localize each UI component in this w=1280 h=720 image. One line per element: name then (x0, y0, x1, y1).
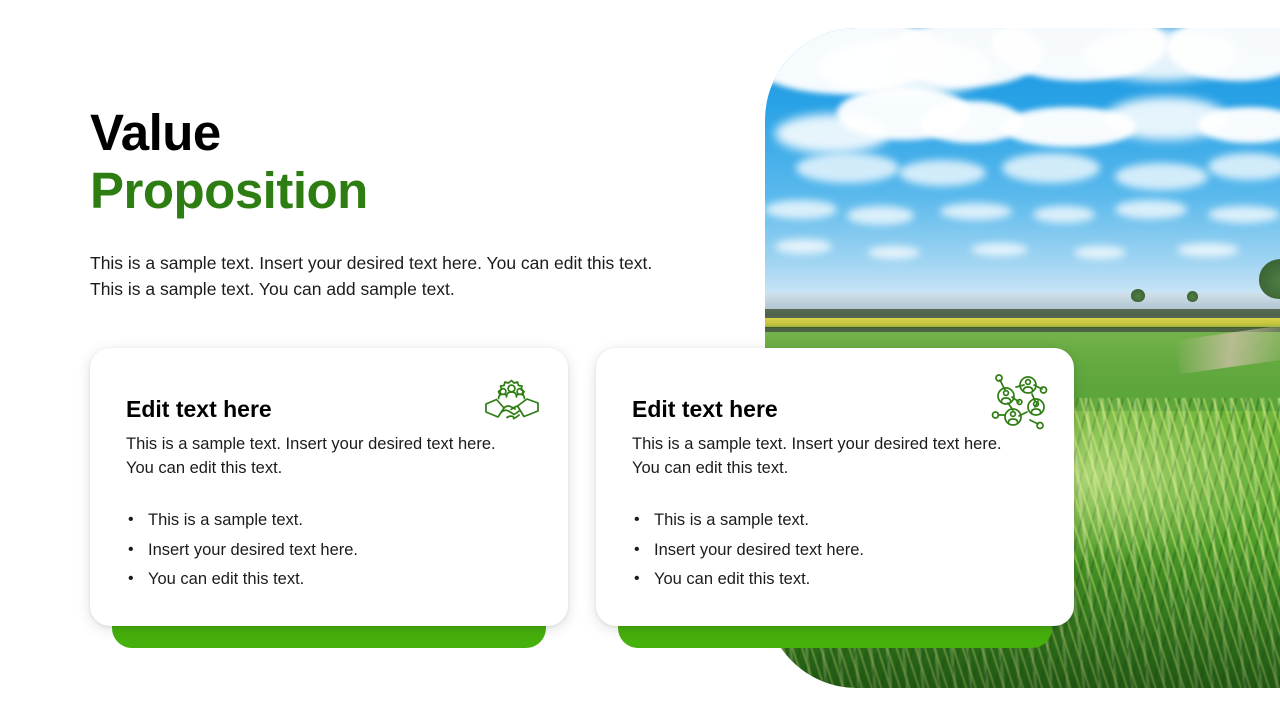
cloud-shape (940, 203, 1012, 220)
list-item: Insert your desired text here. (632, 536, 1022, 566)
cloud-shape (868, 246, 920, 259)
cloud-shape (847, 206, 914, 224)
card-accent-bar (618, 626, 1052, 648)
card-panel: Edit text here This is a sample text. In… (596, 348, 1074, 626)
card-bullet-list: This is a sample text. Insert your desir… (632, 506, 1022, 595)
value-card-2[interactable]: Edit text here This is a sample text. In… (596, 348, 1074, 648)
cloud-shape (1177, 243, 1239, 258)
lead-paragraph: This is a sample text. Insert your desir… (90, 250, 665, 302)
value-card-1[interactable]: Edit text here This is a sample text. In… (90, 348, 568, 648)
cloud-shape (1115, 163, 1208, 189)
tree-shape (1187, 291, 1198, 302)
list-item: You can edit this text. (632, 565, 1022, 595)
cloud-shape (1208, 153, 1280, 179)
handshake-gear-team-icon (480, 370, 544, 432)
card-bullet-list: This is a sample text. Insert your desir… (126, 506, 516, 595)
list-item: This is a sample text. (632, 506, 1022, 536)
card-panel: Edit text here This is a sample text. In… (90, 348, 568, 626)
page-title-line-1: Value (90, 104, 368, 162)
card-accent-bar (112, 626, 546, 648)
list-item: Insert your desired text here. (126, 536, 516, 566)
page-title-line-2: Proposition (90, 162, 368, 220)
cloud-shape (775, 239, 832, 254)
cloud-shape (971, 243, 1028, 256)
people-network-icon (986, 370, 1050, 432)
list-item: This is a sample text. (126, 506, 516, 536)
tree-shape (1131, 289, 1145, 302)
cloud-shape (775, 114, 888, 154)
cloud-shape (1074, 246, 1126, 259)
card-heading: Edit text here (632, 396, 778, 423)
cloud-shape (1002, 153, 1100, 183)
card-heading: Edit text here (126, 396, 272, 423)
card-body-text: This is a sample text. Insert your desir… (632, 432, 1012, 480)
page-title: Value Proposition (90, 104, 368, 220)
slide-canvas: Value Proposition This is a sample text.… (0, 0, 1280, 720)
list-item: You can edit this text. (126, 565, 516, 595)
cloud-shape (796, 153, 899, 183)
card-body-text: This is a sample text. Insert your desir… (126, 432, 506, 480)
